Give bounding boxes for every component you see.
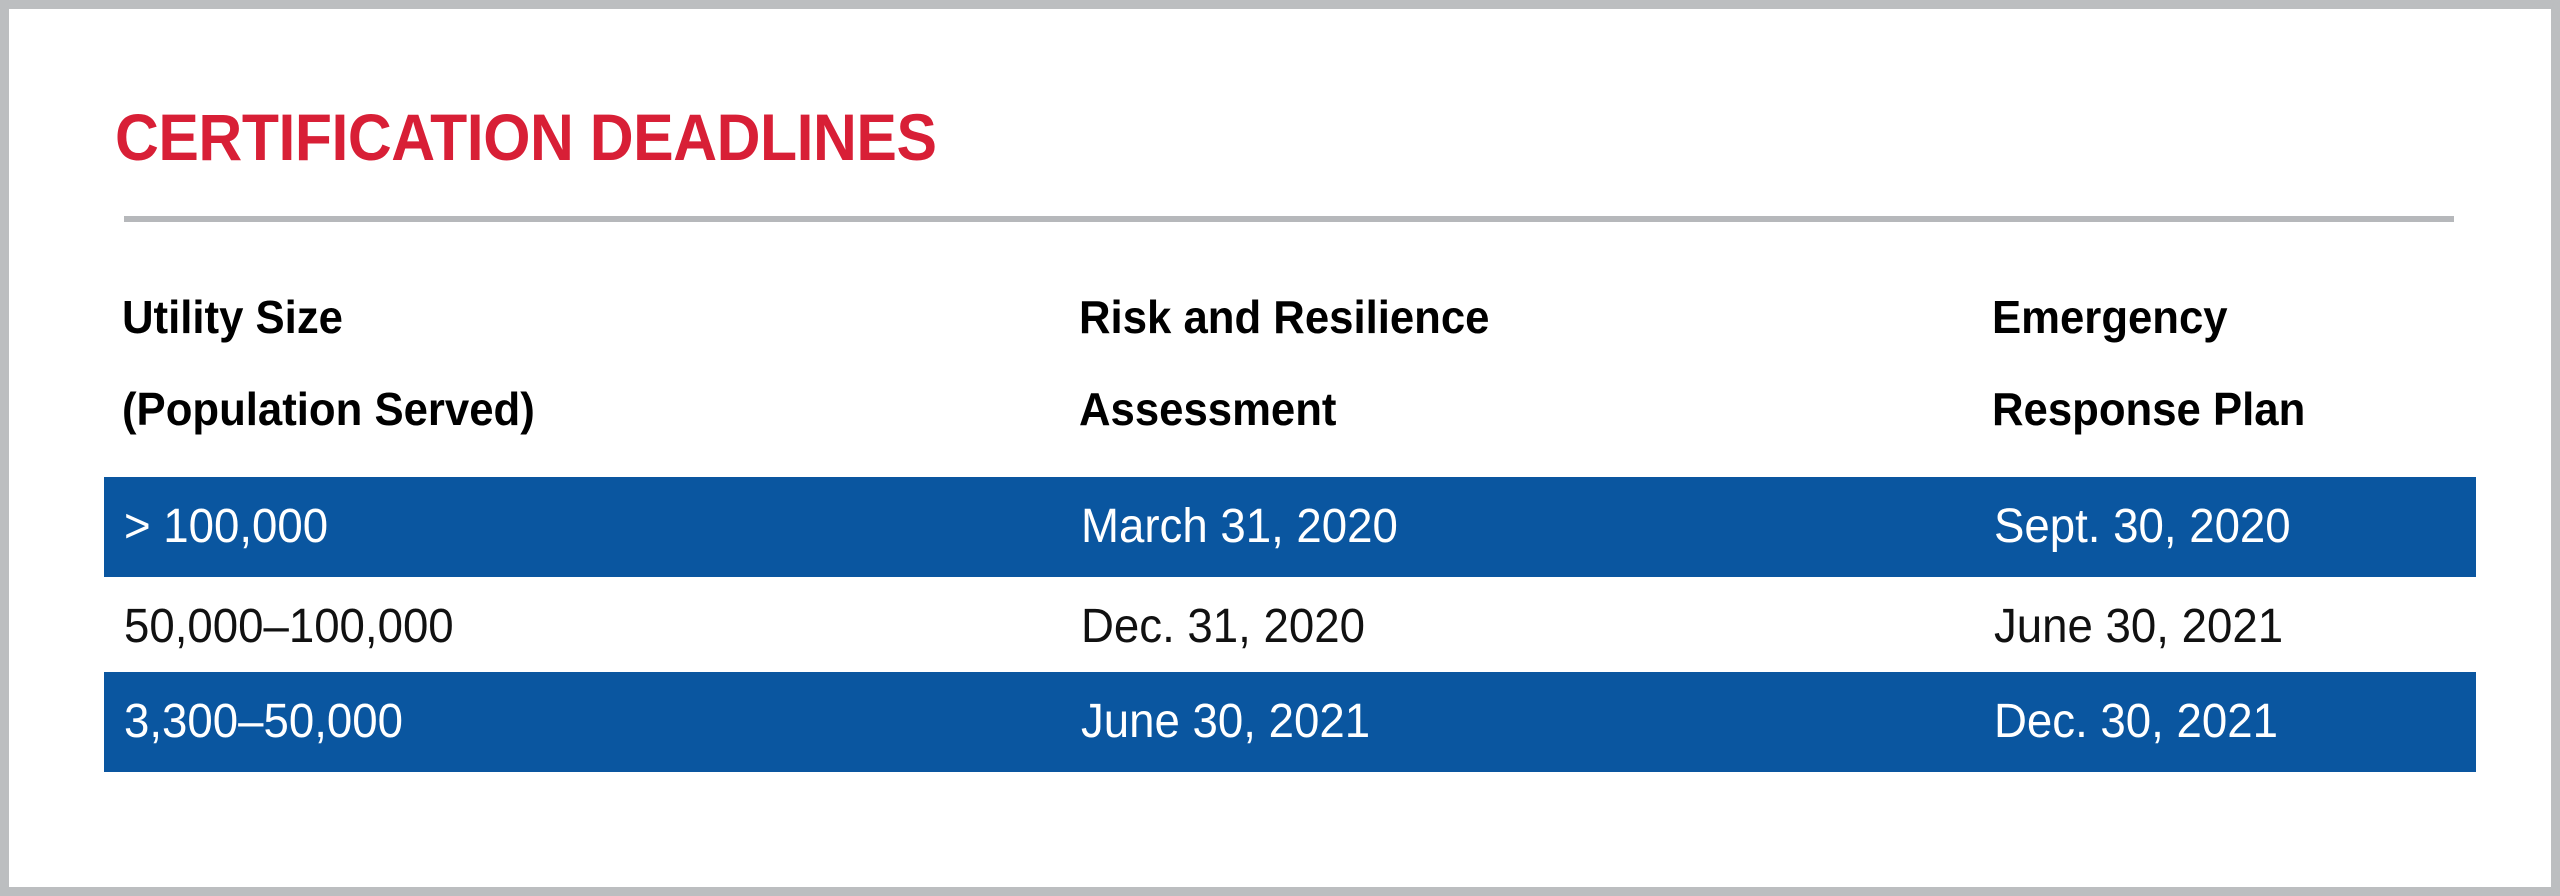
column-header-emergency-response-plan: Emergency Response Plan: [1992, 271, 2305, 455]
cell-utility-size: > 100,000: [124, 477, 328, 577]
cell-risk-and-resilience-assessment: Dec. 31, 2020: [1081, 577, 1365, 677]
cell-emergency-response-plan: Dec. 30, 2021: [1994, 672, 2278, 772]
deadlines-table: Utility Size (Population Served) Risk an…: [9, 9, 2551, 887]
cell-emergency-response-plan: June 30, 2021: [1994, 577, 2283, 677]
table-row: > 100,000 March 31, 2020 Sept. 30, 2020: [104, 477, 2476, 577]
column-header-risk-and-resilience-assessment: Risk and Resilience Assessment: [1079, 271, 1489, 455]
certification-deadlines-figure: CERTIFICATION DEADLINES Utility Size (Po…: [0, 0, 2560, 896]
column-header-risk-and-resilience-assessment-line1: Risk and Resilience: [1079, 271, 1489, 363]
column-header-utility-size-line1: Utility Size: [122, 271, 535, 363]
table-row: 50,000–100,000 Dec. 31, 2020 June 30, 20…: [104, 577, 2476, 677]
cell-utility-size: 3,300–50,000: [124, 672, 403, 772]
figure-inner-surface: CERTIFICATION DEADLINES Utility Size (Po…: [9, 9, 2551, 887]
column-header-emergency-response-plan-line1: Emergency: [1992, 271, 2305, 363]
table-header-row: Utility Size (Population Served) Risk an…: [9, 271, 2551, 471]
column-header-utility-size-line2: (Population Served): [122, 363, 535, 455]
column-header-emergency-response-plan-line2: Response Plan: [1992, 363, 2305, 455]
cell-emergency-response-plan: Sept. 30, 2020: [1994, 477, 2291, 577]
cell-risk-and-resilience-assessment: March 31, 2020: [1081, 477, 1398, 577]
column-header-risk-and-resilience-assessment-line2: Assessment: [1079, 363, 1489, 455]
cell-utility-size: 50,000–100,000: [124, 577, 454, 677]
column-header-utility-size: Utility Size (Population Served): [122, 271, 535, 455]
table-row: 3,300–50,000 June 30, 2021 Dec. 30, 2021: [104, 672, 2476, 772]
cell-risk-and-resilience-assessment: June 30, 2021: [1081, 672, 1370, 772]
